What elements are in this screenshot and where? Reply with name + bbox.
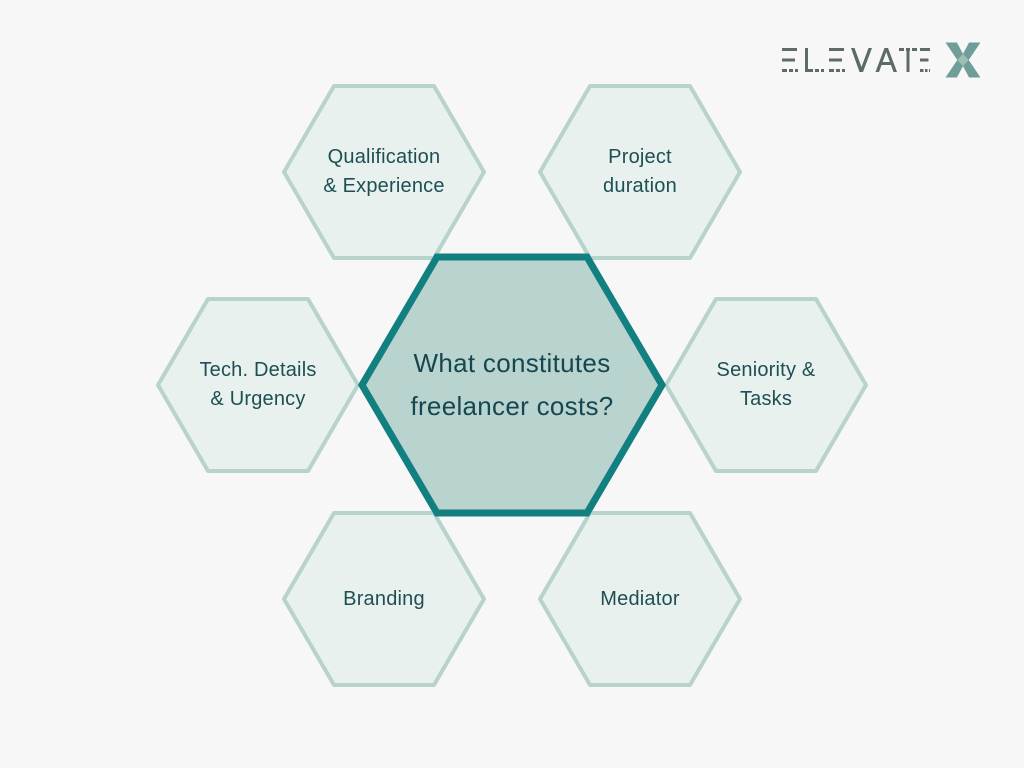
elevate-x-mark-icon	[944, 41, 982, 79]
hexagon-center-question[interactable]	[362, 257, 662, 513]
hexagon-project-duration[interactable]	[540, 86, 740, 258]
hexagon-seniority-tasks[interactable]	[666, 299, 866, 471]
hexagon-branding[interactable]	[284, 513, 484, 685]
hexagon-mediator[interactable]	[540, 513, 740, 685]
elevate-wordmark-icon	[782, 47, 930, 73]
hexagon-diagram	[0, 0, 1024, 768]
slide-canvas: What constitutes freelancer costs? Quali…	[0, 0, 1024, 768]
brand-logo[interactable]	[782, 40, 982, 80]
hexagon-tech-details-urgency[interactable]	[158, 299, 358, 471]
hexagon-qualification-experience[interactable]	[284, 86, 484, 258]
